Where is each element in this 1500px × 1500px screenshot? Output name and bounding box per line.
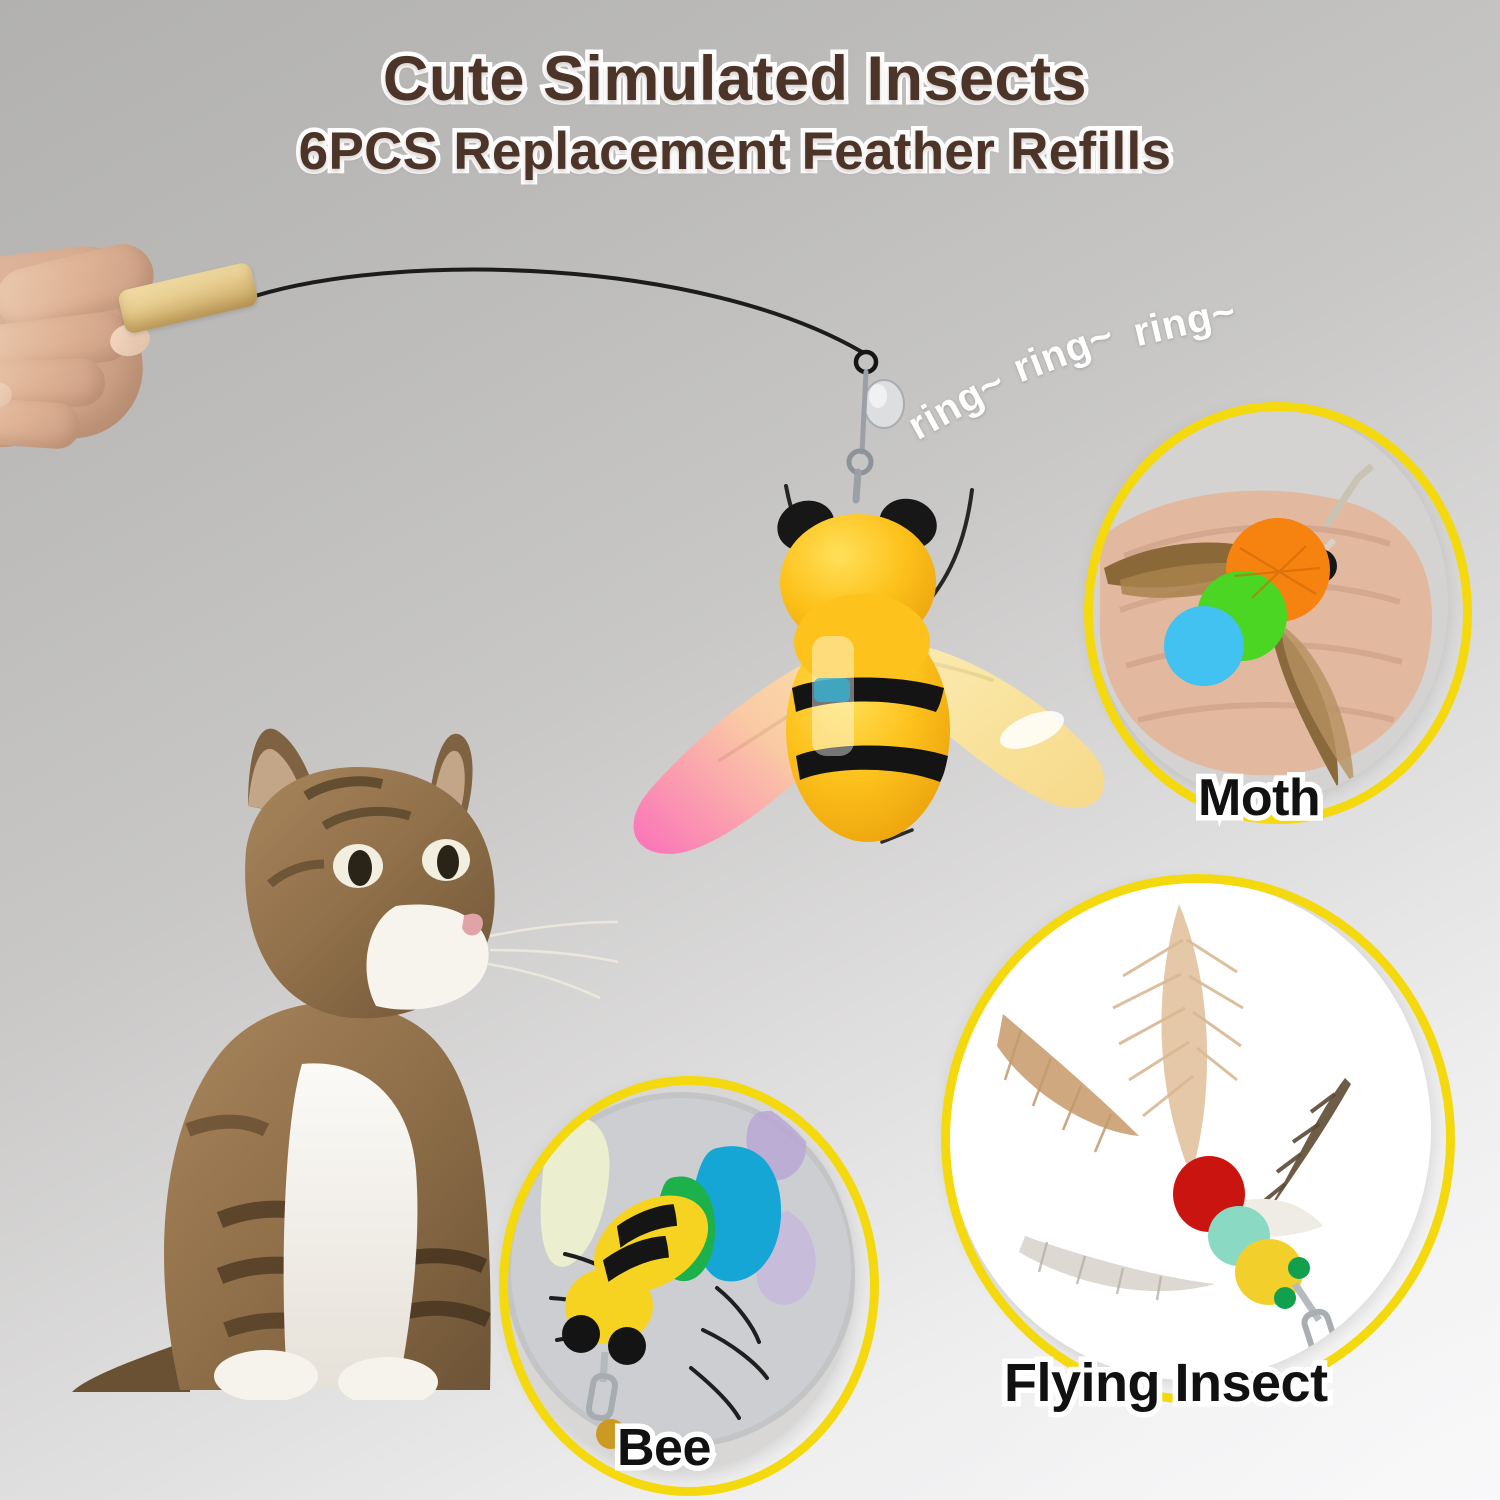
- bee-inset-eye-left: [562, 1315, 600, 1353]
- bell-highlight: [869, 384, 887, 408]
- title-block: Cute Simulated Insects 6PCS Replacement …: [0, 48, 1500, 178]
- sleeve-band: [814, 678, 850, 702]
- product-marketing-image: Cute Simulated Insects 6PCS Replacement …: [0, 0, 1500, 1500]
- wire-end-ring: [856, 352, 876, 372]
- hand-holding-wand: [0, 232, 300, 482]
- bee-inset-eye-right: [608, 1327, 646, 1365]
- bead-green-2: [1274, 1287, 1296, 1309]
- moth-inset-image: [1090, 408, 1448, 800]
- plush-bee-toy: [600, 430, 1120, 900]
- inset-moth[interactable]: [1090, 408, 1448, 800]
- inset-bee[interactable]: [505, 1082, 855, 1472]
- page-title: Cute Simulated Insects: [0, 48, 1500, 111]
- pompom-blue: [1164, 606, 1244, 686]
- caption-flying-insect: Flying Insect: [1004, 1352, 1328, 1414]
- bead-green-1: [1288, 1257, 1310, 1279]
- caption-moth: Moth: [1198, 768, 1320, 828]
- caption-bee: Bee: [617, 1418, 711, 1478]
- flying-insect-inset-image: [947, 880, 1431, 1380]
- bee-inset-image: [505, 1082, 855, 1472]
- page-subtitle: 6PCS Replacement Feather Refills: [0, 125, 1500, 178]
- inset-flying-insect[interactable]: [947, 880, 1431, 1380]
- steel-wire: [255, 270, 862, 352]
